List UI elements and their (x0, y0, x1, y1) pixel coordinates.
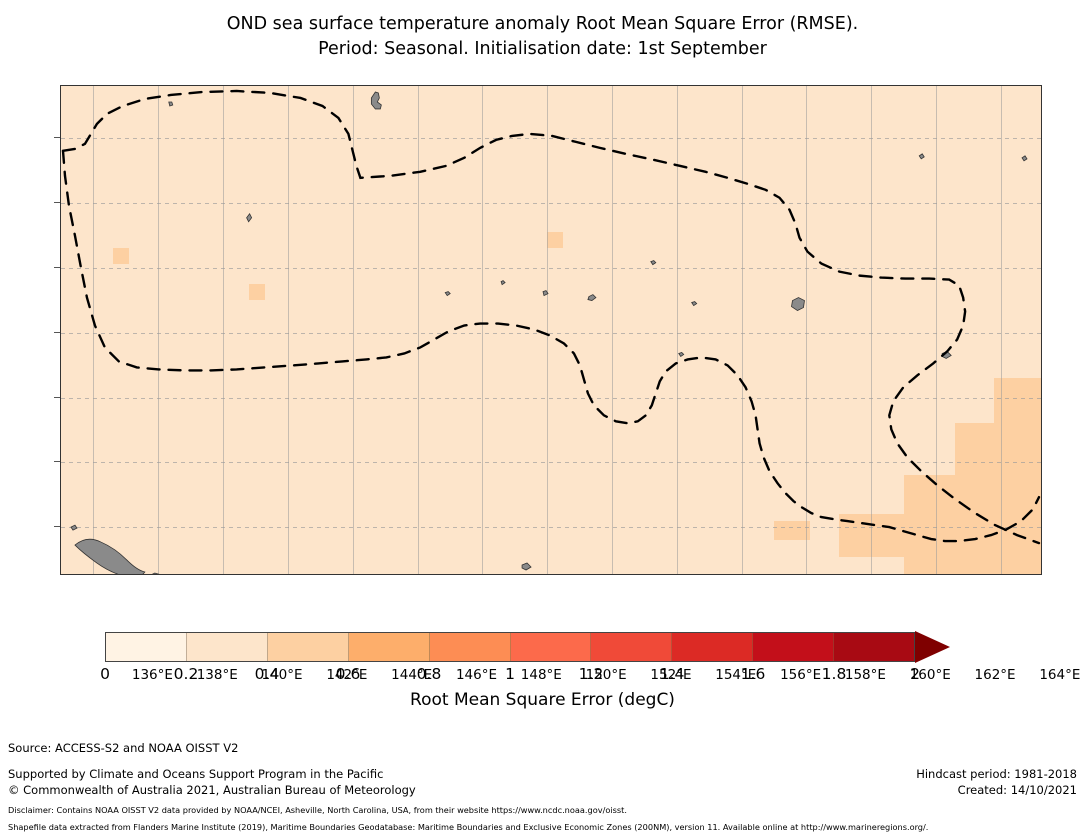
source-text: Source: ACCESS-S2 and NOAA OISST V2 (8, 741, 238, 755)
x-axis-tick-label: 146°E (456, 667, 497, 683)
colorbar-band-1.6-1.8 (753, 633, 834, 661)
disclaimer-line-2: Shapefile data extracted from Flanders M… (8, 822, 928, 832)
eez-boundary-layer (61, 86, 1041, 575)
colorbar (105, 632, 915, 662)
colorbar-extend-arrow (915, 631, 950, 663)
map-canvas (60, 85, 1042, 575)
colorbar-band-0.2-0.4 (187, 633, 268, 661)
colorbar-tick-label: 0.8 (417, 665, 442, 683)
y-axis-tick-mark (54, 397, 60, 398)
y-axis-tick-mark (54, 526, 60, 527)
colorbar-tick-label: 0.6 (336, 665, 361, 683)
colorbar-band-1-1.2 (511, 633, 592, 661)
chart-title-line1: OND sea surface temperature anomaly Root… (0, 12, 1085, 37)
colorbar-band-0.4-0.6 (268, 633, 349, 661)
y-axis-tick-mark (54, 461, 60, 462)
disclaimer-line-1: Disclaimer: Contains NOAA OISST V2 data … (8, 805, 627, 815)
x-axis-tick-label: 148°E (521, 667, 562, 683)
created-date: Created: 14/10/2021 (916, 782, 1077, 798)
hindcast-period: Hindcast period: 1981-2018 (916, 766, 1077, 782)
colorbar-band-0-0.2 (106, 633, 187, 661)
colorbar-band-0.8-1 (430, 633, 511, 661)
colorbar-tick-label: 2 (910, 665, 920, 683)
colorbar-label: Root Mean Square Error (degC) (0, 690, 1085, 710)
copyright-line: © Commonwealth of Australia 2021, Austra… (8, 782, 416, 798)
colorbar-band-0.6-0.8 (349, 633, 430, 661)
y-axis-tick-mark (54, 137, 60, 138)
colorbar-tick-label: 1.8 (822, 665, 847, 683)
support-text: Supported by Climate and Oceans Support … (8, 766, 416, 798)
chart-title: OND sea surface temperature anomaly Root… (0, 12, 1085, 62)
colorbar-tick-label: 0.4 (255, 665, 280, 683)
y-axis-tick-mark (54, 267, 60, 268)
metadata-block: Hindcast period: 1981-2018 Created: 14/1… (916, 766, 1077, 798)
x-axis-tick-label: 162°E (975, 667, 1016, 683)
x-axis-tick-label: 158°E (845, 667, 886, 683)
y-axis-tick-mark (54, 202, 60, 203)
colorbar-band-1.4-1.6 (672, 633, 753, 661)
eez-boundary-north (63, 91, 1039, 543)
map-plot-area: 0°2°N4°N6°N8°N10°N12°N 136°E138°E140°E14… (60, 85, 1042, 575)
colorbar-band-1.2-1.4 (591, 633, 672, 661)
x-axis-tick-label: 138°E (197, 667, 238, 683)
y-axis-tick-mark (54, 332, 60, 333)
support-line-1: Supported by Climate and Oceans Support … (8, 766, 416, 782)
x-axis-tick-label: 164°E (1039, 667, 1080, 683)
colorbar-tick-label: 1.2 (579, 665, 604, 683)
x-axis-tick-label: 156°E (780, 667, 821, 683)
colorbar-tick-label: 1.4 (660, 665, 685, 683)
colorbar-band-1.8-2 (834, 633, 914, 661)
colorbar-tick-label: 1 (505, 665, 515, 683)
eez-boundary-south (63, 151, 1039, 541)
colorbar-tick-label: 0.2 (174, 665, 199, 683)
colorbar-tick-label: 1.6 (741, 665, 766, 683)
x-axis-tick-label: 136°E (132, 667, 173, 683)
colorbar-bands (105, 632, 915, 662)
chart-title-line2: Period: Seasonal. Initialisation date: 1… (0, 37, 1085, 62)
colorbar-tick-label: 0 (100, 665, 110, 683)
